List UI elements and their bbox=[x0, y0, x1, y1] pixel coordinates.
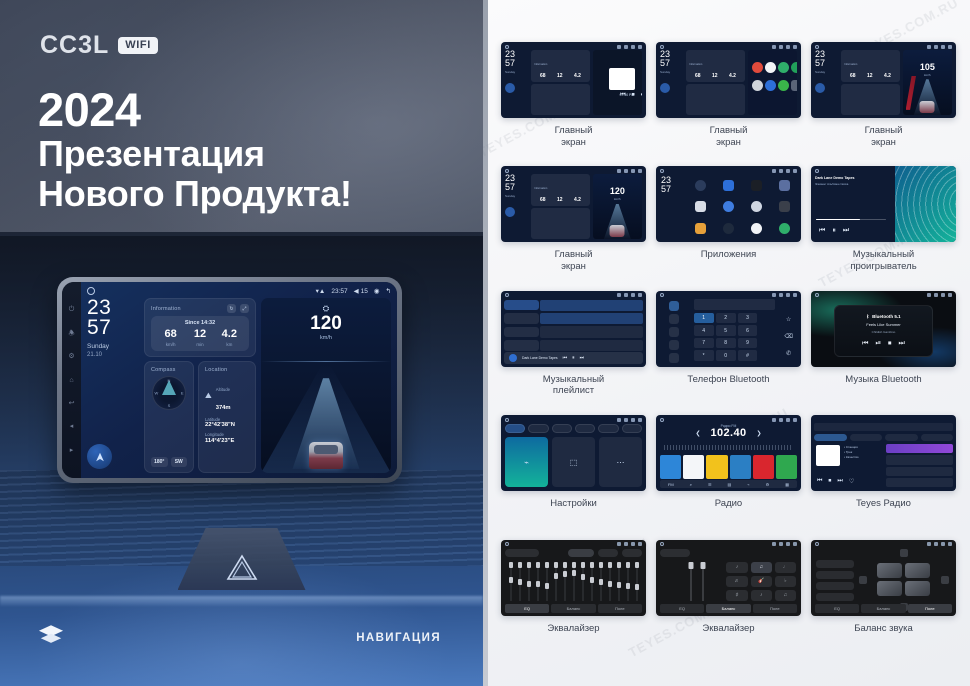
next-station-icon[interactable]: ❯ bbox=[757, 430, 762, 437]
track-list[interactable] bbox=[540, 300, 643, 351]
band-slider[interactable] bbox=[624, 562, 631, 601]
preset-selector[interactable] bbox=[660, 549, 690, 557]
headline-line-2: Нового Продукта! bbox=[38, 174, 352, 214]
thumbnail-sound-balance[interactable]: EQ Баланс Поле bbox=[811, 540, 956, 616]
status-bar: ▾▲ 23:57 ◀15 ◉ ↰ bbox=[87, 285, 391, 297]
brand-name: CC3L bbox=[40, 31, 109, 60]
tab-network[interactable] bbox=[505, 424, 525, 433]
compass-heading: 180° bbox=[151, 457, 168, 467]
phone-actions[interactable]: ☆ ⌫ ✆ bbox=[779, 313, 798, 361]
settings-key-icon[interactable]: ⚙ bbox=[68, 353, 74, 360]
dial-key[interactable]: 6 bbox=[738, 325, 758, 336]
thumbnail-radio[interactable]: Радио FM ❮ 102.40 ❯ FM ⌕ bbox=[656, 415, 801, 491]
preset-button[interactable]: ♭ bbox=[775, 576, 796, 587]
clock-hours: 23 bbox=[87, 298, 139, 318]
band-handle[interactable] bbox=[599, 579, 603, 585]
band-handle[interactable] bbox=[563, 571, 567, 577]
preset-button[interactable]: ♪ bbox=[726, 562, 747, 573]
band-handle[interactable] bbox=[509, 577, 513, 583]
preset-tile[interactable] bbox=[660, 455, 681, 479]
preset-button[interactable]: 🎸 bbox=[751, 576, 772, 587]
stop-icon[interactable]: ⏹ bbox=[828, 478, 831, 485]
prev-icon: ⏮ bbox=[819, 227, 825, 235]
metric-unit: min bbox=[185, 342, 214, 347]
dial-key[interactable]: 9 bbox=[738, 338, 758, 349]
bt-track-title: Feels Like Summer bbox=[866, 322, 900, 327]
volume-level: 15 bbox=[361, 288, 368, 295]
call-icon[interactable]: ✆ bbox=[786, 350, 791, 357]
tab-eq[interactable]: EQ bbox=[505, 604, 549, 613]
list-item[interactable] bbox=[504, 327, 539, 338]
player-controls[interactable]: ⏮⏸⏭ bbox=[819, 227, 849, 235]
longitude-value: 114°4'23"E bbox=[205, 438, 249, 445]
navigation-arrow-icon bbox=[815, 83, 825, 93]
back-key-icon[interactable]: ↩ bbox=[69, 400, 75, 407]
band-icon[interactable]: FM bbox=[668, 482, 674, 487]
audio-tabs[interactable]: EQ Баланс Поле bbox=[660, 604, 797, 613]
album-art bbox=[816, 445, 840, 466]
app-icon bbox=[765, 62, 776, 73]
band-handle[interactable] bbox=[626, 583, 630, 589]
radio-frequency: 102.40 bbox=[710, 427, 746, 439]
backspace-icon[interactable]: ⌫ bbox=[784, 333, 792, 340]
app-icon bbox=[723, 201, 734, 212]
thumbnail-caption: Телефон Bluetooth bbox=[687, 374, 769, 386]
thumbnail-home-apps[interactable]: 2357Sunday Information68124.2 bbox=[656, 42, 801, 118]
prev-icon[interactable]: ⏮ bbox=[563, 355, 568, 361]
band-slider[interactable] bbox=[534, 562, 541, 601]
balance-presets[interactable] bbox=[816, 560, 854, 601]
visualizer-background bbox=[895, 166, 956, 242]
next-icon: ⏭ bbox=[641, 92, 642, 99]
head-unit-display: ▾▲ 23:57 ◀15 ◉ ↰ 23 57 Sunday 21.10 bbox=[81, 282, 397, 478]
dial-key[interactable]: 0 bbox=[716, 350, 736, 361]
search-icon[interactable]: ⌕ bbox=[690, 482, 692, 487]
band-handle[interactable] bbox=[536, 581, 540, 587]
contacts-icon[interactable] bbox=[669, 314, 679, 324]
app-icon bbox=[752, 62, 763, 73]
player-controls[interactable]: ⏮ ⏹ ⏭ ♡ bbox=[817, 478, 854, 485]
tab-eq[interactable]: EQ bbox=[660, 604, 704, 613]
list-item[interactable] bbox=[540, 313, 643, 324]
hazard-light-button[interactable] bbox=[225, 552, 259, 582]
band-slider[interactable] bbox=[588, 562, 595, 601]
equalizer-band-sliders[interactable] bbox=[507, 562, 640, 601]
list-item[interactable] bbox=[540, 300, 643, 311]
thumbnail-caption: Музыкальныйплейлист bbox=[543, 374, 604, 397]
phone-nav-rail[interactable] bbox=[659, 299, 688, 363]
rds-icon[interactable]: ⌁ bbox=[747, 482, 749, 487]
band-handle[interactable] bbox=[554, 573, 558, 579]
frequency-scale[interactable] bbox=[664, 445, 793, 450]
preset-tile[interactable] bbox=[753, 455, 774, 479]
app-icon bbox=[778, 62, 789, 73]
search-icon[interactable] bbox=[669, 327, 679, 337]
more-icon[interactable]: ⋯ bbox=[599, 437, 642, 487]
expand-icon[interactable]: ⤢ bbox=[240, 304, 249, 313]
tab-about[interactable] bbox=[622, 424, 642, 433]
preset-chip[interactable] bbox=[598, 549, 618, 557]
pause-icon: ⏸ bbox=[832, 227, 836, 235]
band-handle[interactable] bbox=[572, 570, 576, 576]
list-item[interactable] bbox=[816, 593, 854, 601]
preset-tile[interactable] bbox=[730, 455, 751, 479]
gallery-item[interactable]: 2357Sunday Information68124.2 120 km/h Г… bbox=[501, 166, 646, 286]
app-icon bbox=[751, 223, 762, 234]
information-widget[interactable]: Information ↻ ⤢ Since 14:32 bbox=[144, 298, 256, 357]
band-slider[interactable] bbox=[525, 562, 532, 601]
tab-balance[interactable]: Баланс bbox=[861, 604, 905, 613]
bass-slider[interactable] bbox=[690, 562, 692, 601]
tab-item[interactable] bbox=[885, 434, 918, 441]
metric-value: 68 bbox=[156, 329, 185, 340]
latitude-value: 22°42'38"N bbox=[205, 422, 249, 429]
navigation-arrow-icon[interactable] bbox=[87, 444, 112, 469]
tab-field[interactable]: Поле bbox=[908, 604, 952, 613]
panel-divider bbox=[483, 0, 488, 686]
list-item[interactable] bbox=[886, 478, 953, 487]
preset-station-tiles[interactable] bbox=[660, 455, 797, 479]
status-time: 23:57 bbox=[331, 288, 347, 295]
gallery-item[interactable]: EQ Баланс Поле Баланс звука bbox=[811, 540, 956, 660]
thumbnail-equalizer-bands[interactable]: EQ Баланс Поле bbox=[501, 540, 646, 616]
band-slider[interactable] bbox=[543, 562, 550, 601]
dial-key[interactable]: # bbox=[738, 350, 758, 361]
settings-icon[interactable]: ⚙ bbox=[766, 482, 770, 487]
tab-eq[interactable]: EQ bbox=[815, 604, 859, 613]
dialpad-icon[interactable] bbox=[669, 301, 679, 311]
preset-button[interactable]: ♯ bbox=[726, 590, 747, 601]
list-item[interactable] bbox=[886, 467, 953, 476]
preset-button[interactable]: ♬ bbox=[726, 576, 747, 587]
circle-app-icon[interactable]: ◉ bbox=[374, 287, 380, 295]
tab-balance[interactable]: Баланс bbox=[551, 604, 595, 613]
thumbnail-home-media[interactable]: 2357Sunday Information68124.2 07:50 PM ⏮… bbox=[501, 42, 646, 118]
hotspot-icon[interactable]: ⬚ bbox=[552, 437, 595, 487]
thumbnail-caption: Эквалайзер bbox=[547, 623, 599, 635]
clock-weekday: Sunday bbox=[87, 343, 139, 352]
player-controls: ⏮⏹⏭ bbox=[620, 92, 642, 99]
wifi-badge: WIFI bbox=[118, 37, 158, 53]
balance-pad[interactable] bbox=[869, 558, 939, 602]
list-item[interactable] bbox=[886, 444, 953, 453]
speaker-rear-left bbox=[877, 581, 902, 596]
compass-n: N bbox=[168, 378, 171, 383]
metric-value: 12 bbox=[185, 329, 214, 340]
layers-icon bbox=[38, 624, 64, 650]
band-handle[interactable] bbox=[581, 574, 585, 580]
band-handle[interactable] bbox=[518, 579, 522, 585]
thumbnail-home-adas[interactable]: 2357Sunday Information68124.2 120 km/h bbox=[501, 166, 646, 242]
gallery-item[interactable]: 2357Sunday Information68124.2 105 km/h Г… bbox=[811, 42, 956, 162]
power-key-icon[interactable]: ⏻ bbox=[69, 306, 75, 313]
list-item[interactable] bbox=[540, 340, 643, 351]
gallery-item[interactable]: EQ Баланс Поле Эквалайзер bbox=[501, 540, 646, 660]
settings-cards[interactable]: ⌁ ⬚ ⋯ bbox=[505, 437, 642, 487]
bass-treble-sliders[interactable] bbox=[679, 562, 714, 601]
list-item[interactable] bbox=[504, 300, 539, 311]
thumbnail-music-playlist[interactable]: Dark Lane Demo Tapes ⏮⏸⏭ bbox=[501, 291, 646, 367]
thumbnail-caption: Teyes Радио bbox=[856, 498, 911, 510]
gallery-item[interactable]: Dark Lane Demo Tapes Элемент Альбома спи… bbox=[811, 166, 956, 286]
home-indicator-icon[interactable] bbox=[87, 287, 95, 295]
band-slider[interactable] bbox=[570, 562, 577, 601]
bt-track-artist: Childish Gambino bbox=[872, 330, 896, 334]
band-handle[interactable] bbox=[545, 583, 549, 589]
progress-bar[interactable] bbox=[816, 219, 886, 221]
thumb-speed-value: 105 bbox=[920, 62, 935, 72]
wifi-icon[interactable]: ⌁ bbox=[505, 437, 548, 487]
thumbnail-apps[interactable]: 2357 bbox=[656, 166, 801, 242]
audio-tabs[interactable]: EQ Баланс Поле bbox=[505, 604, 642, 613]
preset-chip[interactable] bbox=[622, 549, 642, 557]
band-slider[interactable] bbox=[597, 562, 604, 601]
list-item[interactable] bbox=[816, 571, 854, 579]
app-icon bbox=[723, 180, 734, 191]
back-arrow-icon[interactable]: ↰ bbox=[386, 287, 391, 295]
dial-key[interactable]: 1 bbox=[694, 313, 714, 324]
home-key-icon[interactable]: ⌂ bbox=[69, 377, 73, 384]
balance-up-button[interactable] bbox=[900, 549, 908, 557]
tab-balance[interactable]: Баланс bbox=[706, 604, 750, 613]
list-item[interactable] bbox=[816, 582, 854, 590]
dial-key[interactable]: 2 bbox=[716, 313, 736, 324]
tab-item[interactable] bbox=[814, 434, 847, 441]
altitude-label: Altitude bbox=[216, 387, 230, 392]
metric-unit: km/h bbox=[156, 342, 185, 347]
dial-key[interactable]: 5 bbox=[716, 325, 736, 336]
thumb-clock-minutes: 57 bbox=[815, 59, 838, 68]
preset-button[interactable]: ♩ bbox=[775, 562, 796, 573]
band-handle[interactable] bbox=[527, 581, 531, 587]
eq-icon[interactable]: ▤ bbox=[728, 482, 732, 487]
compass-direction: SW bbox=[171, 457, 188, 467]
next-icon[interactable]: ⏭ bbox=[837, 478, 842, 485]
trip-metric: 12 min bbox=[185, 329, 214, 347]
prev-icon[interactable]: ⏮ bbox=[817, 478, 822, 485]
list-item[interactable] bbox=[504, 313, 539, 324]
tab-item[interactable] bbox=[850, 434, 883, 441]
settings-icon[interactable] bbox=[669, 353, 679, 363]
dial-key[interactable]: 3 bbox=[738, 313, 758, 324]
thumbnail-teyes-radio[interactable]: • Станция• Трек• Качество ⏮ ⏹ ⏭ ♡ bbox=[811, 415, 956, 491]
location-title: Location bbox=[205, 367, 249, 373]
equalizer-header[interactable] bbox=[660, 549, 797, 558]
band-slider[interactable] bbox=[507, 562, 514, 601]
gallery-item[interactable]: ᛒBluetooth 5.1 Feels Like Summer Childis… bbox=[811, 291, 956, 411]
band-slider[interactable] bbox=[606, 562, 613, 601]
thumbnail-caption: Главныйэкран bbox=[865, 125, 903, 148]
adas-speed-widget[interactable]: ⛭ 120 km/h bbox=[261, 298, 391, 473]
thumbnail-caption: Главныйэкран bbox=[555, 249, 593, 272]
mountain-icon: ⛰ bbox=[205, 391, 212, 401]
gallery-item[interactable]: ⌁ ⬚ ⋯ Настройки bbox=[501, 415, 646, 535]
preset-button[interactable]: ♫ bbox=[751, 562, 772, 573]
prev-icon[interactable]: ⏮ bbox=[862, 340, 868, 348]
dial-key[interactable]: 8 bbox=[716, 338, 736, 349]
band-slider[interactable] bbox=[561, 562, 568, 601]
thumbnail-bluetooth-phone[interactable]: 1 2 3 4 5 6 7 8 9 * 0 # ☆ ⌫ ✆ bbox=[656, 291, 801, 367]
band-handle[interactable] bbox=[617, 582, 621, 588]
head-unit-screen-area: ⏻ 🕭 ⚙ ⌂ ↩ ◂ ▸ ▾▲ 23:57 ◀15 ◉ ↰ bbox=[62, 282, 397, 478]
speed-value: 120 bbox=[310, 314, 342, 333]
prev-station-icon[interactable]: ❮ bbox=[695, 430, 700, 437]
navigation-arrow-icon bbox=[505, 207, 515, 217]
volume-down-key-icon[interactable]: ◂ bbox=[70, 423, 74, 430]
thumbnail-equalizer-presets[interactable]: ♪ ♫ ♩ ♬ 🎸 ♭ ♯ ♪ ♫ EQ Баланс Поле bbox=[656, 540, 801, 616]
list-item[interactable] bbox=[540, 326, 643, 337]
screenshot-gallery-panel: TEYES.COM.RU TEYES.COM.RU TEYES.COM.RU T… bbox=[483, 0, 970, 686]
bt-device-name: Bluetooth 5.1 bbox=[872, 314, 901, 319]
tab-display[interactable] bbox=[552, 424, 572, 433]
clock-minutes: 57 bbox=[87, 318, 139, 338]
mini-player-bar[interactable]: Dark Lane Demo Tapes ⏮⏸⏭ bbox=[504, 352, 643, 364]
preset-tile[interactable] bbox=[706, 455, 727, 479]
next-icon[interactable]: ⏭ bbox=[899, 340, 905, 348]
dialed-number-field[interactable] bbox=[694, 299, 775, 310]
next-icon[interactable]: ⏭ bbox=[580, 355, 585, 361]
balance-right-button[interactable] bbox=[941, 576, 949, 584]
preset-selector[interactable] bbox=[505, 549, 539, 557]
app-icon bbox=[765, 80, 776, 91]
location-widget[interactable]: Location ⛰ Altitude 374m Latitude bbox=[198, 361, 256, 473]
gallery-item[interactable]: ♪ ♫ ♩ ♬ 🎸 ♭ ♯ ♪ ♫ EQ Баланс Поле Эквалай bbox=[656, 540, 801, 660]
album-art bbox=[609, 68, 635, 90]
teyes-radio-tabs[interactable] bbox=[814, 434, 953, 441]
thumbnail-caption: Радио bbox=[715, 498, 742, 510]
clock-widget[interactable]: 23 57 Sunday 21.10 bbox=[87, 298, 139, 473]
band-handle[interactable] bbox=[590, 577, 594, 583]
band-slider[interactable] bbox=[579, 562, 586, 601]
band-slider[interactable] bbox=[633, 562, 640, 601]
favorite-icon[interactable]: ♡ bbox=[849, 478, 854, 485]
preset-tile[interactable] bbox=[776, 455, 797, 479]
brand-logo: CC3L WIFI bbox=[40, 31, 158, 60]
tab-apps[interactable] bbox=[598, 424, 618, 433]
gallery-item[interactable]: 2357Sunday Information68124.2 bbox=[656, 42, 801, 162]
list-item[interactable] bbox=[816, 560, 854, 568]
band-handle[interactable] bbox=[635, 584, 639, 590]
tab-item[interactable] bbox=[921, 434, 954, 441]
stop-icon: ⏹ bbox=[632, 92, 635, 99]
lead-vehicle-icon bbox=[610, 225, 625, 237]
speaker-rear-right bbox=[905, 581, 930, 596]
band-slider[interactable] bbox=[552, 562, 559, 601]
app-icon bbox=[695, 201, 706, 212]
thumbnail-settings[interactable]: ⌁ ⬚ ⋯ bbox=[501, 415, 646, 491]
band-handle[interactable] bbox=[608, 581, 612, 587]
thumb-clock-minutes: 57 bbox=[660, 59, 683, 68]
hardware-key-strip[interactable]: ⏻ 🕭 ⚙ ⌂ ↩ ◂ ▸ bbox=[62, 282, 81, 478]
thumbnail-home-drive[interactable]: 2357Sunday Information68124.2 105 km/h bbox=[811, 42, 956, 118]
preset-tile[interactable] bbox=[683, 455, 704, 479]
list-item[interactable] bbox=[886, 455, 953, 464]
audio-tabs[interactable]: EQ Баланс Поле bbox=[815, 604, 952, 613]
tab-system[interactable] bbox=[575, 424, 595, 433]
radio-toolbar[interactable]: FM ⌕ ☰ ▤ ⌁ ⚙ ▦ bbox=[660, 480, 797, 488]
app-icon bbox=[779, 201, 790, 212]
app-icon bbox=[695, 180, 706, 191]
gallery-item[interactable]: Dark Lane Demo Tapes ⏮⏸⏭ Музыкальныйплей… bbox=[501, 291, 646, 411]
thumbnail-music-player[interactable]: Dark Lane Demo Tapes Элемент Альбома спи… bbox=[811, 166, 956, 242]
stop-icon[interactable]: ⏹ bbox=[888, 340, 892, 348]
tab-field[interactable]: Поле bbox=[753, 604, 797, 613]
navigation-arrow-icon bbox=[660, 83, 670, 93]
trip-card: Since 14:32 68 km/h 12 min bbox=[151, 316, 249, 351]
now-playing-title: Dark Lane Demo Tapes bbox=[815, 176, 891, 180]
gallery-item[interactable]: Радио FM ❮ 102.40 ❯ FM ⌕ bbox=[656, 415, 801, 535]
pause-icon[interactable]: ⏸ bbox=[572, 355, 575, 361]
navigation-arrow-icon bbox=[505, 83, 515, 93]
information-title: Information bbox=[151, 306, 181, 312]
preset-chip[interactable] bbox=[568, 549, 594, 557]
mute-key-icon[interactable]: 🕭 bbox=[68, 330, 74, 337]
wifi-icon: ▾▲ bbox=[316, 287, 326, 295]
band-slider[interactable] bbox=[615, 562, 622, 601]
gallery-item[interactable]: • Станция• Трек• Качество ⏮ ⏹ ⏭ ♡ Teyes … bbox=[811, 415, 956, 535]
playlist-categories[interactable] bbox=[504, 300, 539, 351]
app-icon bbox=[779, 180, 790, 191]
prev-icon: ⏮ bbox=[620, 92, 625, 99]
dial-key[interactable]: 7 bbox=[694, 338, 714, 349]
thumbnail-bluetooth-music[interactable]: ᛒBluetooth 5.1 Feels Like Summer Childis… bbox=[811, 291, 956, 367]
preset-button[interactable]: ♪ bbox=[751, 590, 772, 601]
gallery-item[interactable]: 2357Sunday Information68124.2 07:50 PM ⏮… bbox=[501, 42, 646, 162]
dial-key[interactable]: 4 bbox=[694, 325, 714, 336]
band-slider[interactable] bbox=[516, 562, 523, 601]
equalizer-header[interactable] bbox=[505, 549, 642, 558]
headline-block: 2024 Презентация Нового Продукта! bbox=[38, 86, 352, 215]
list-icon[interactable]: ☰ bbox=[708, 482, 712, 487]
settings-tabs[interactable] bbox=[505, 424, 642, 433]
compass-s: S bbox=[168, 403, 171, 408]
preset-grid[interactable]: ♪ ♫ ♩ ♬ 🎸 ♭ ♯ ♪ ♫ bbox=[726, 562, 796, 601]
gallery-item[interactable]: 2357 Приложения bbox=[656, 166, 801, 286]
thumbnail-caption: Музыкальныйпроигрыватель bbox=[850, 249, 916, 272]
play-pause-icon[interactable]: ⏯ bbox=[875, 340, 881, 348]
balance-left-button[interactable] bbox=[859, 576, 867, 584]
thumbnail-grid: 2357Sunday Information68124.2 07:50 PM ⏮… bbox=[501, 42, 956, 660]
player-controls[interactable]: ⏮ ⏯ ⏹ ⏭ bbox=[862, 340, 905, 348]
thumb-speed-unit: km/h bbox=[924, 73, 931, 77]
app-icon bbox=[791, 62, 797, 73]
dial-pad[interactable]: 1 2 3 4 5 6 7 8 9 * 0 # bbox=[694, 313, 758, 361]
call-history-icon[interactable] bbox=[669, 340, 679, 350]
gallery-item[interactable]: 1 2 3 4 5 6 7 8 9 * 0 # ☆ ⌫ ✆ bbox=[656, 291, 801, 411]
treble-slider[interactable] bbox=[702, 562, 704, 601]
tab-field[interactable]: Поле bbox=[598, 604, 642, 613]
headline-year: 2024 bbox=[38, 86, 352, 134]
refresh-icon[interactable]: ↻ bbox=[227, 304, 236, 313]
grid-icon[interactable]: ▦ bbox=[785, 482, 789, 487]
list-item[interactable] bbox=[504, 340, 539, 351]
dial-key[interactable]: * bbox=[694, 350, 714, 361]
volume-icon[interactable]: ◀15 bbox=[354, 287, 368, 295]
station-list[interactable] bbox=[886, 444, 953, 487]
album-art bbox=[509, 354, 517, 362]
favorite-icon[interactable]: ☆ bbox=[786, 316, 791, 323]
preset-button[interactable]: ♫ bbox=[775, 590, 796, 601]
tab-sound[interactable] bbox=[528, 424, 548, 433]
compass-widget[interactable]: Compass N S E W 180° S bbox=[144, 361, 194, 473]
thumbnail-caption: Главныйэкран bbox=[710, 125, 748, 148]
home-screen-body: 23 57 Sunday 21.10 Information bbox=[87, 298, 391, 473]
app-icon bbox=[791, 80, 797, 91]
app-icon bbox=[752, 80, 763, 91]
thumb-speed-unit: km/h bbox=[614, 197, 621, 201]
volume-up-key-icon[interactable]: ▸ bbox=[70, 447, 74, 454]
thumb-clock-minutes: 57 bbox=[661, 185, 671, 194]
